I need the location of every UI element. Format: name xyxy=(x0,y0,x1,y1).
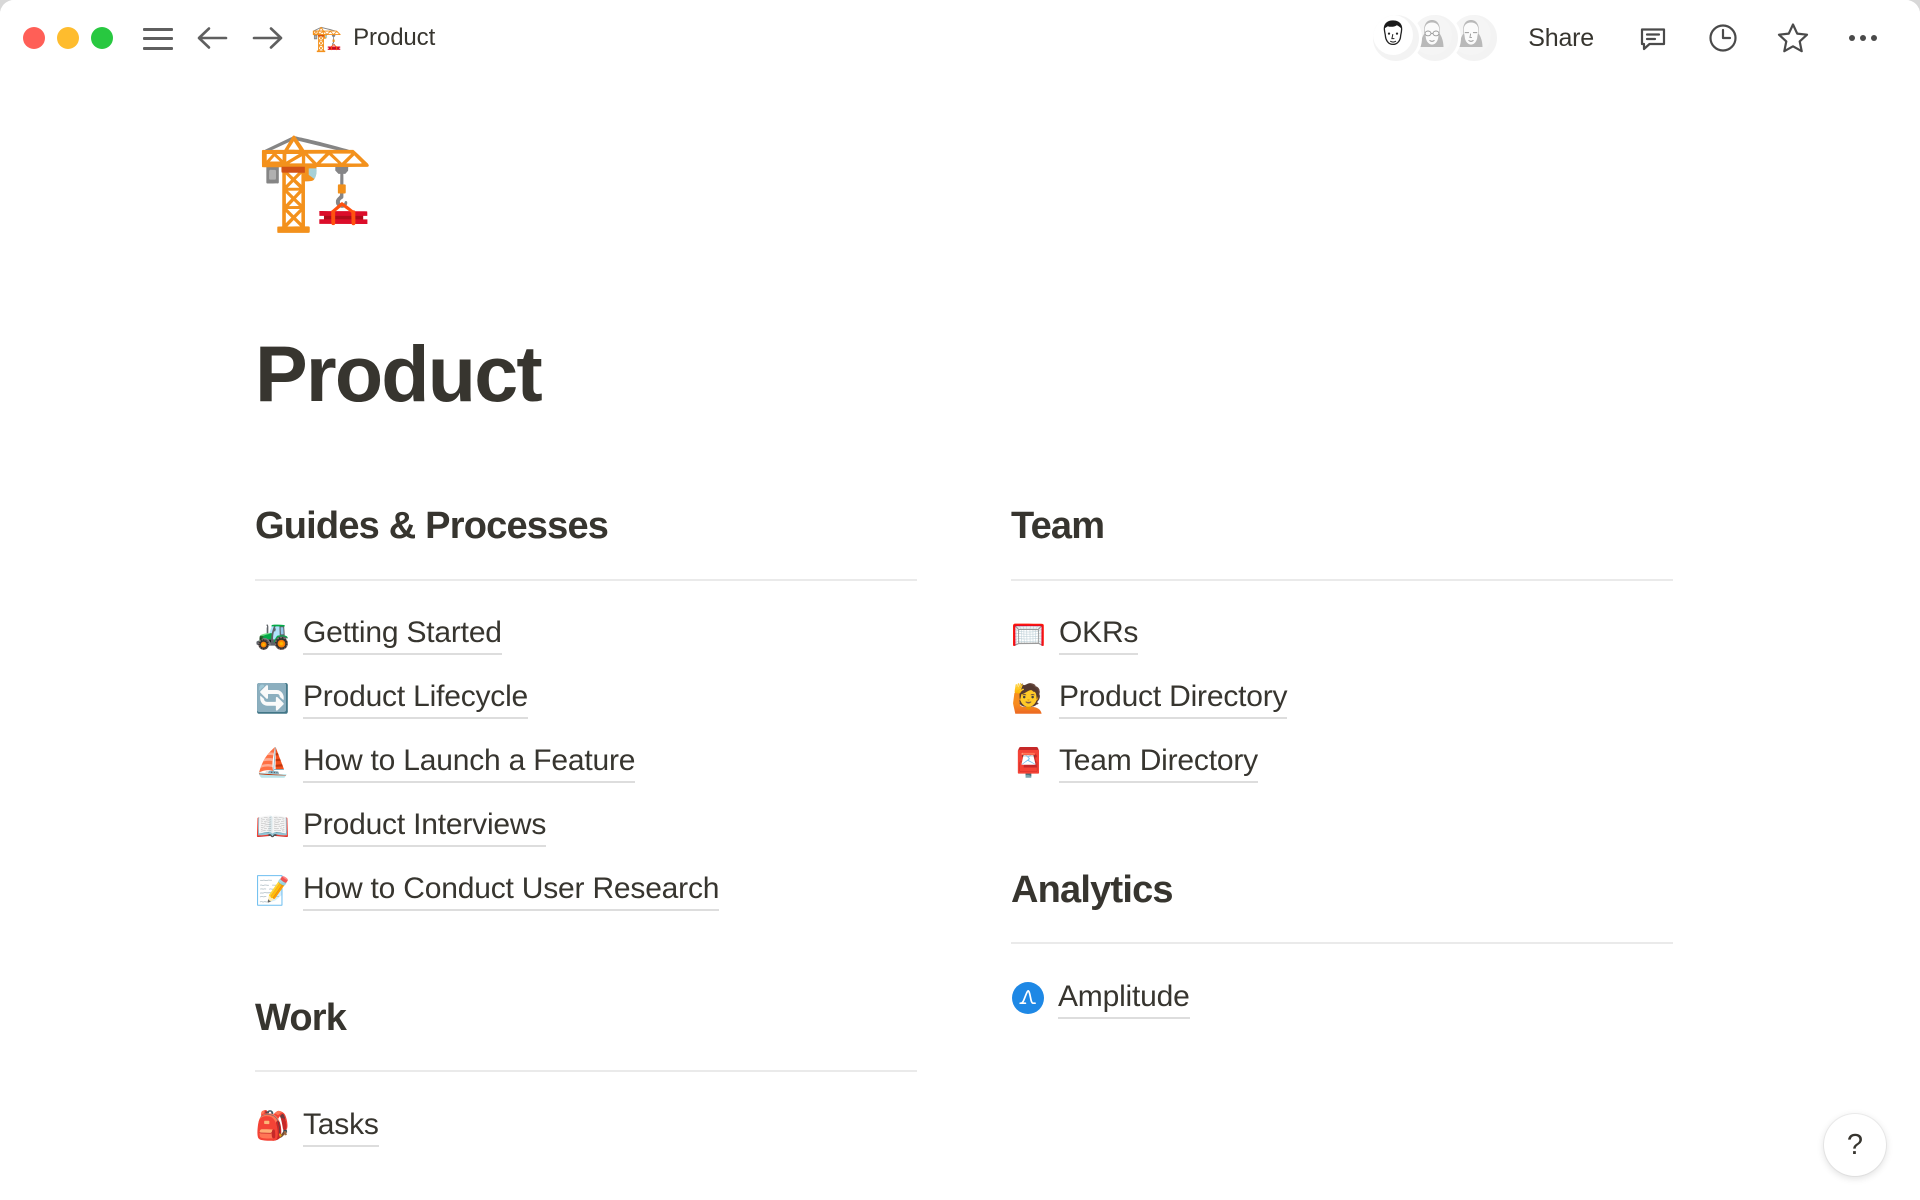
sidebar-toggle-icon[interactable] xyxy=(143,27,173,50)
ellipsis-dot xyxy=(1860,35,1866,41)
column-left: Guides & Processes 🚜 Getting Started 🔄 P… xyxy=(255,505,917,1158)
section-divider xyxy=(1011,579,1673,581)
maximize-window-button[interactable] xyxy=(91,27,113,49)
section-guides-and-processes: Guides & Processes 🚜 Getting Started 🔄 P… xyxy=(255,505,917,923)
link-list: 🚜 Getting Started 🔄 Product Lifecycle ⛵ … xyxy=(255,603,917,923)
memo-icon: 📝 xyxy=(255,877,289,905)
tractor-icon: 🚜 xyxy=(255,621,289,649)
page-title[interactable]: Product xyxy=(255,334,1920,413)
link-list: Amplitude xyxy=(1011,966,1673,1030)
page-link-how-to-launch-a-feature[interactable]: How to Launch a Feature xyxy=(303,742,635,783)
page-icon-crane[interactable]: 🏗️ xyxy=(255,132,1920,272)
page-content: 🏗️ Product Guides & Processes 🚜 Getting … xyxy=(0,76,1920,1158)
section-divider xyxy=(1011,942,1673,944)
title-bar: 🏗️ Product xyxy=(0,0,1920,76)
section-divider xyxy=(255,579,917,581)
titlebar-actions: Share xyxy=(1370,12,1886,64)
arrow-left-icon[interactable] xyxy=(195,25,229,51)
open-book-icon: 📖 xyxy=(255,813,289,841)
section-heading: Team xyxy=(1011,505,1673,549)
breadcrumb-title: Product xyxy=(353,24,435,52)
list-item[interactable]: 🙋 Product Directory xyxy=(1011,667,1673,731)
page-link-tasks[interactable]: Tasks xyxy=(303,1106,379,1147)
column-layout: Guides & Processes 🚜 Getting Started 🔄 P… xyxy=(255,505,1920,1158)
clock-icon[interactable] xyxy=(1700,15,1746,61)
page-link-team-directory[interactable]: Team Directory xyxy=(1059,742,1258,783)
crane-icon: 🏗️ xyxy=(311,26,342,51)
sailboat-icon: ⛵ xyxy=(255,749,289,777)
comment-icon[interactable] xyxy=(1630,15,1676,61)
breadcrumb[interactable]: 🏗️ Product xyxy=(311,24,435,52)
page-link-product-directory[interactable]: Product Directory xyxy=(1059,678,1287,719)
list-item[interactable]: 🥅 OKRs xyxy=(1011,603,1673,667)
share-button[interactable]: Share xyxy=(1528,24,1594,53)
navigation-controls xyxy=(143,25,285,51)
person-raising-hand-icon: 🙋 xyxy=(1011,685,1045,713)
ellipsis-icon[interactable] xyxy=(1840,15,1886,61)
page-link-how-to-conduct-user-research[interactable]: How to Conduct User Research xyxy=(303,870,719,911)
star-icon[interactable] xyxy=(1770,15,1816,61)
section-work: Work 🎒 Tasks xyxy=(255,997,917,1159)
help-button[interactable]: ? xyxy=(1824,1114,1886,1176)
window-controls xyxy=(23,27,113,49)
refresh-icon: 🔄 xyxy=(255,685,289,713)
postbox-icon: 📮 xyxy=(1011,749,1045,777)
collaborator-avatars[interactable] xyxy=(1370,12,1500,64)
app-window: 🏗️ Product xyxy=(0,0,1920,1200)
link-list: 🎒 Tasks xyxy=(255,1094,917,1158)
list-item[interactable]: 🔄 Product Lifecycle xyxy=(255,667,917,731)
list-item[interactable]: Amplitude xyxy=(1011,966,1673,1030)
ellipsis-dot xyxy=(1871,35,1877,41)
list-item[interactable]: 🎒 Tasks xyxy=(255,1094,917,1158)
page-link-getting-started[interactable]: Getting Started xyxy=(303,614,502,655)
goal-net-icon: 🥅 xyxy=(1011,621,1045,649)
list-item[interactable]: 📝 How to Conduct User Research xyxy=(255,859,917,923)
page-link-product-interviews[interactable]: Product Interviews xyxy=(303,806,546,847)
link-list: 🥅 OKRs 🙋 Product Directory 📮 Team Direct… xyxy=(1011,603,1673,795)
section-heading: Work xyxy=(255,997,917,1041)
arrow-right-icon[interactable] xyxy=(251,25,285,51)
list-item[interactable]: 🚜 Getting Started xyxy=(255,603,917,667)
ellipsis-dot xyxy=(1849,35,1855,41)
hamburger-line xyxy=(143,28,173,31)
section-team: Team 🥅 OKRs 🙋 Product Directory 📮 xyxy=(1011,505,1673,795)
list-item[interactable]: 📖 Product Interviews xyxy=(255,795,917,859)
hamburger-line xyxy=(143,37,173,40)
avatar[interactable] xyxy=(1370,12,1422,64)
close-window-button[interactable] xyxy=(23,27,45,49)
page-link-okrs[interactable]: OKRs xyxy=(1059,614,1138,655)
section-heading: Guides & Processes xyxy=(255,505,917,549)
hamburger-line xyxy=(143,47,173,50)
section-analytics: Analytics Amplitude xyxy=(1011,869,1673,1031)
amplitude-logo-icon xyxy=(1012,982,1044,1014)
page-link-amplitude[interactable]: Amplitude xyxy=(1058,978,1190,1019)
list-item[interactable]: 📮 Team Directory xyxy=(1011,731,1673,795)
backpack-icon: 🎒 xyxy=(255,1112,289,1140)
list-item[interactable]: ⛵ How to Launch a Feature xyxy=(255,731,917,795)
column-right: Team 🥅 OKRs 🙋 Product Directory 📮 xyxy=(1011,505,1673,1158)
section-divider xyxy=(255,1070,917,1072)
section-heading: Analytics xyxy=(1011,869,1673,913)
page-link-product-lifecycle[interactable]: Product Lifecycle xyxy=(303,678,528,719)
minimize-window-button[interactable] xyxy=(57,27,79,49)
